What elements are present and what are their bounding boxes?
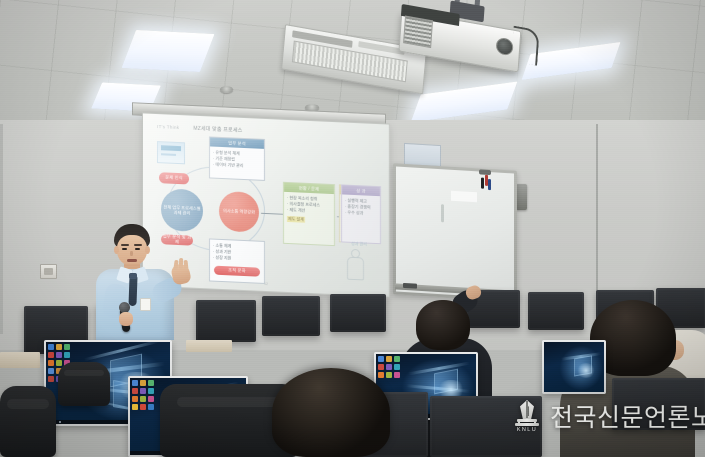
- wall-outlet-icon: [40, 264, 57, 279]
- monitor-off: [528, 292, 584, 330]
- presenter-tie: [128, 276, 137, 306]
- presenter-hand: [119, 312, 133, 326]
- windows-wallpaper: [544, 342, 604, 392]
- desktop-icons[interactable]: [132, 380, 154, 410]
- desk-surface: [0, 352, 40, 368]
- watermark-acronym: KNLU: [512, 427, 542, 433]
- attendee-front-center: [272, 368, 390, 457]
- eraser-icon: [403, 283, 417, 289]
- attendee-mid-center: [416, 300, 470, 350]
- monitor-off: [196, 300, 256, 342]
- monitor-off: [330, 294, 386, 332]
- monitor-on[interactable]: [542, 340, 606, 394]
- whiteboard: [393, 163, 517, 301]
- presenter: [86, 224, 198, 340]
- sprinkler-icon: [220, 86, 233, 93]
- chair: [0, 386, 56, 457]
- monitor-off: [262, 296, 320, 336]
- watermark-organization: 전국신문언론노동조합: [550, 398, 705, 434]
- watermark: KNLU 전국신문언론노동조합: [512, 398, 705, 434]
- whiteboard-markers: [481, 175, 491, 192]
- chair: [58, 362, 110, 406]
- name-badge: [140, 298, 151, 311]
- desktop-icons[interactable]: [378, 356, 400, 378]
- wall-speaker-icon: [516, 184, 527, 210]
- desk-surface: [186, 340, 232, 352]
- lecture-room-photo: IT's Think MZ세대 맞춤 프로세스 전체 업무 프로세스별 과제 관…: [0, 0, 705, 457]
- ceiling-light: [122, 30, 215, 72]
- pen-nib-logo-icon: KNLU: [512, 398, 542, 434]
- wall-corner: [0, 124, 3, 334]
